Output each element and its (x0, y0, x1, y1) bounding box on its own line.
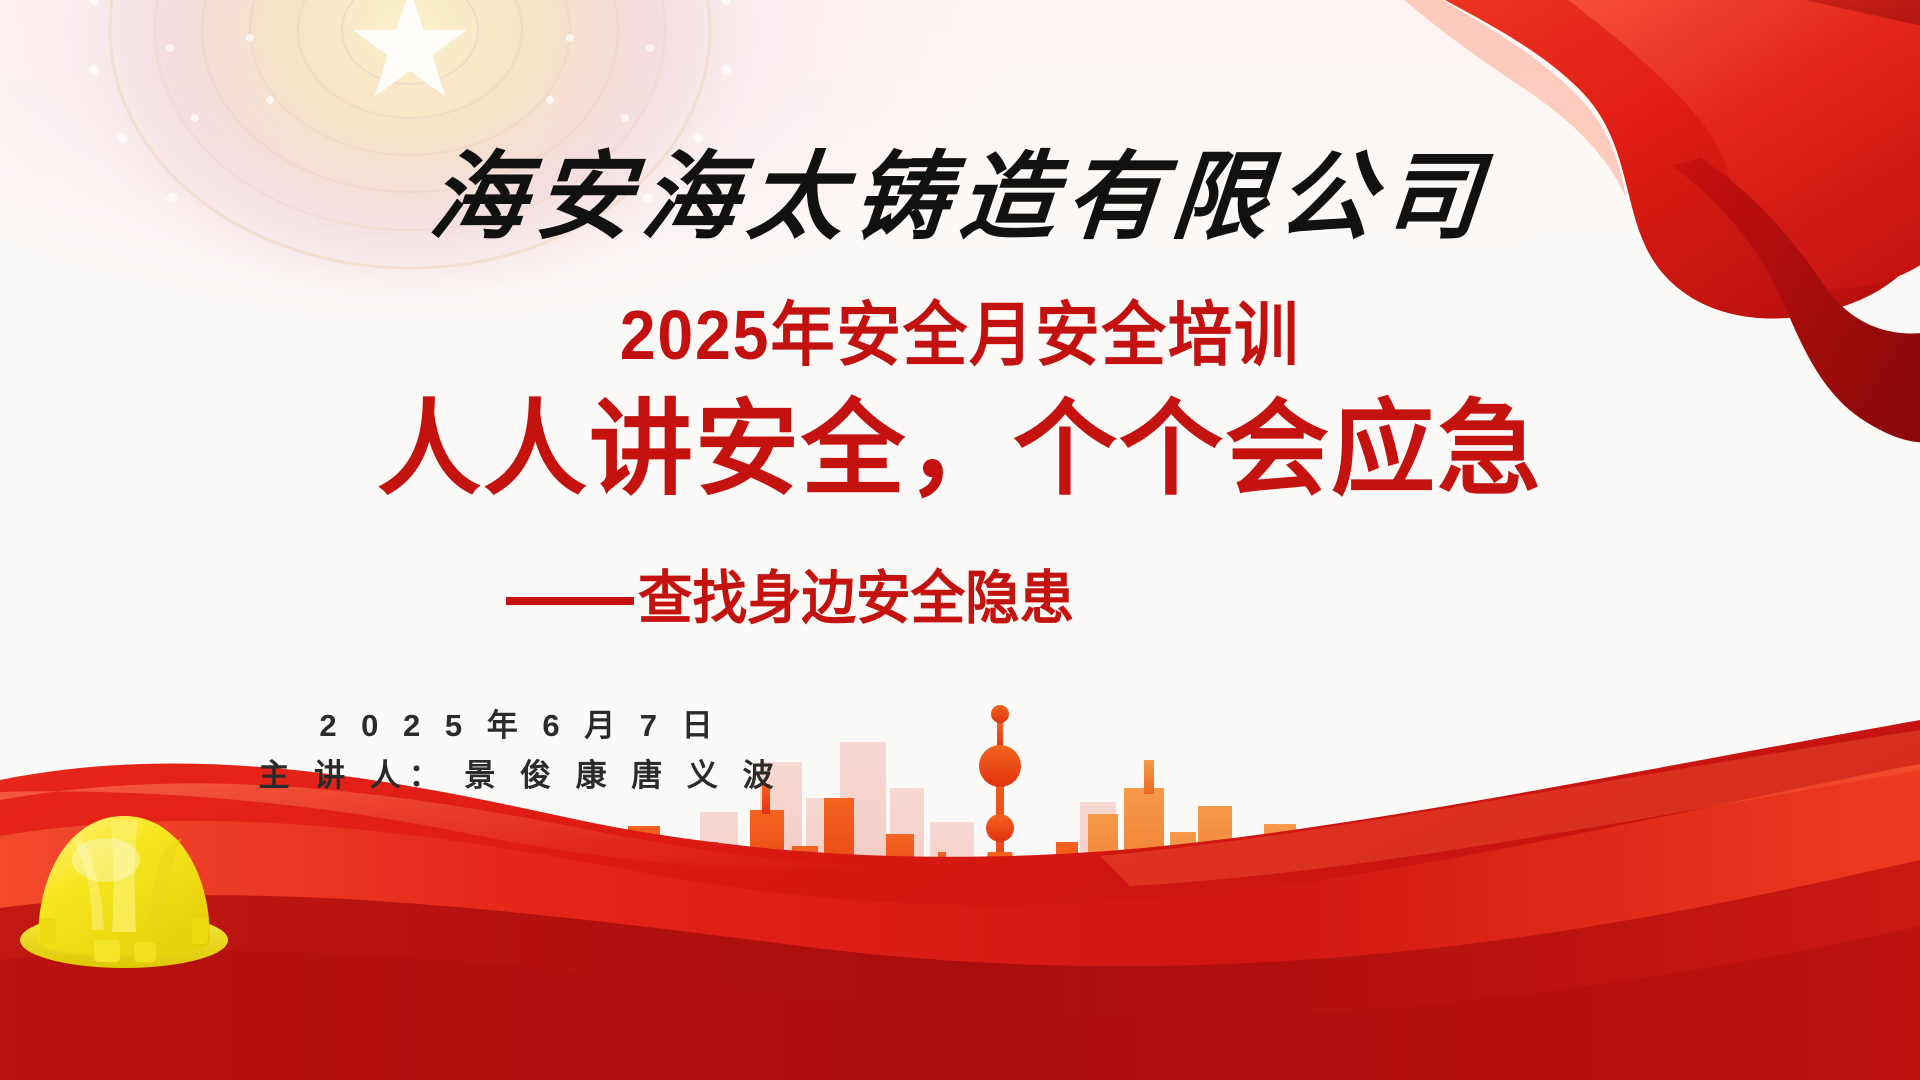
speaker-line: 主 讲 人： 景 俊 康 唐 义 波 (0, 750, 1920, 795)
training-subtitle: 2025年安全月安全培训 (77, 300, 1843, 370)
event-date: 2 0 2 5 年 6 月 7 日 (0, 700, 1920, 745)
poster-canvas: 海安海太铸造有限公司 2025年安全月安全培训 人人讲安全，个个会应急 查找身边… (0, 0, 1920, 1080)
tagline-text: 查找身边安全隐患 (638, 570, 1074, 628)
main-slogan: 人人讲安全，个个会应急 (0, 398, 1920, 502)
em-dash-rule (506, 597, 634, 605)
tagline-row: 查找身边安全隐患 (0, 570, 1920, 628)
company-title: 海安海太铸造有限公司 (0, 150, 1920, 246)
poster-text-block: 海安海太铸造有限公司 2025年安全月安全培训 人人讲安全，个个会应急 查找身边… (0, 0, 1920, 1080)
